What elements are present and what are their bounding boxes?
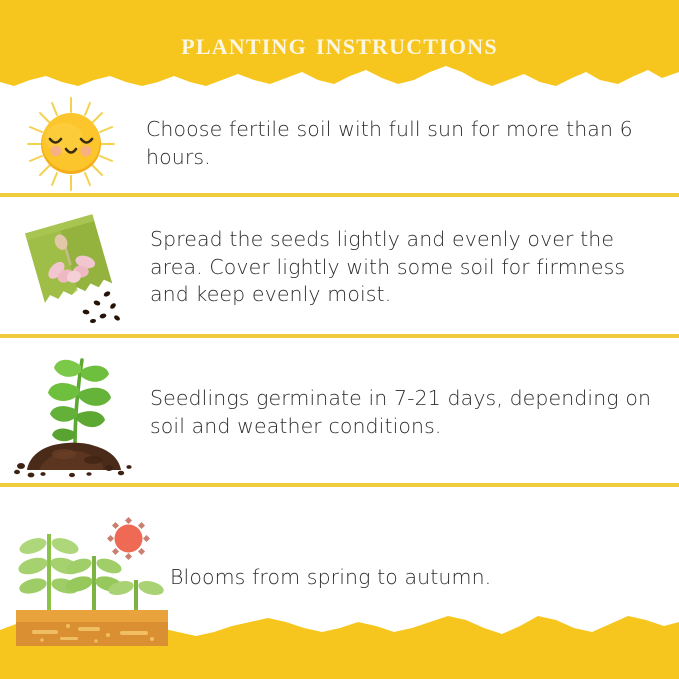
planting-instructions-infographic: Planting Instructions	[0, 0, 679, 679]
page-title: Planting Instructions	[0, 26, 679, 62]
smiling-sun-icon	[6, 94, 136, 194]
step-text-4: Blooms from spring to autumn.	[170, 564, 640, 592]
garden-bed-with-sun-icon	[8, 508, 188, 648]
soil-bed	[16, 610, 168, 646]
divider-1	[0, 193, 679, 197]
divider-3	[0, 483, 679, 487]
divider-2	[0, 334, 679, 338]
step-text-2: Spread the seeds lightly and evenly over…	[150, 226, 670, 310]
seed-packet-icon	[6, 208, 136, 328]
seedling-sprout-icon	[6, 348, 136, 478]
red-sun-icon	[107, 517, 150, 560]
step-text-1: Choose fertile soil with full sun for mo…	[146, 116, 666, 172]
step-text-3: Seedlings germinate in 7-21 days, depend…	[150, 385, 670, 441]
step-row-3: Seedlings germinate in 7-21 days, depend…	[0, 340, 679, 485]
plant-small	[107, 579, 165, 612]
step-row-2: Spread the seeds lightly and evenly over…	[0, 199, 679, 336]
step-row-1: Choose fertile soil with full sun for mo…	[0, 92, 679, 195]
